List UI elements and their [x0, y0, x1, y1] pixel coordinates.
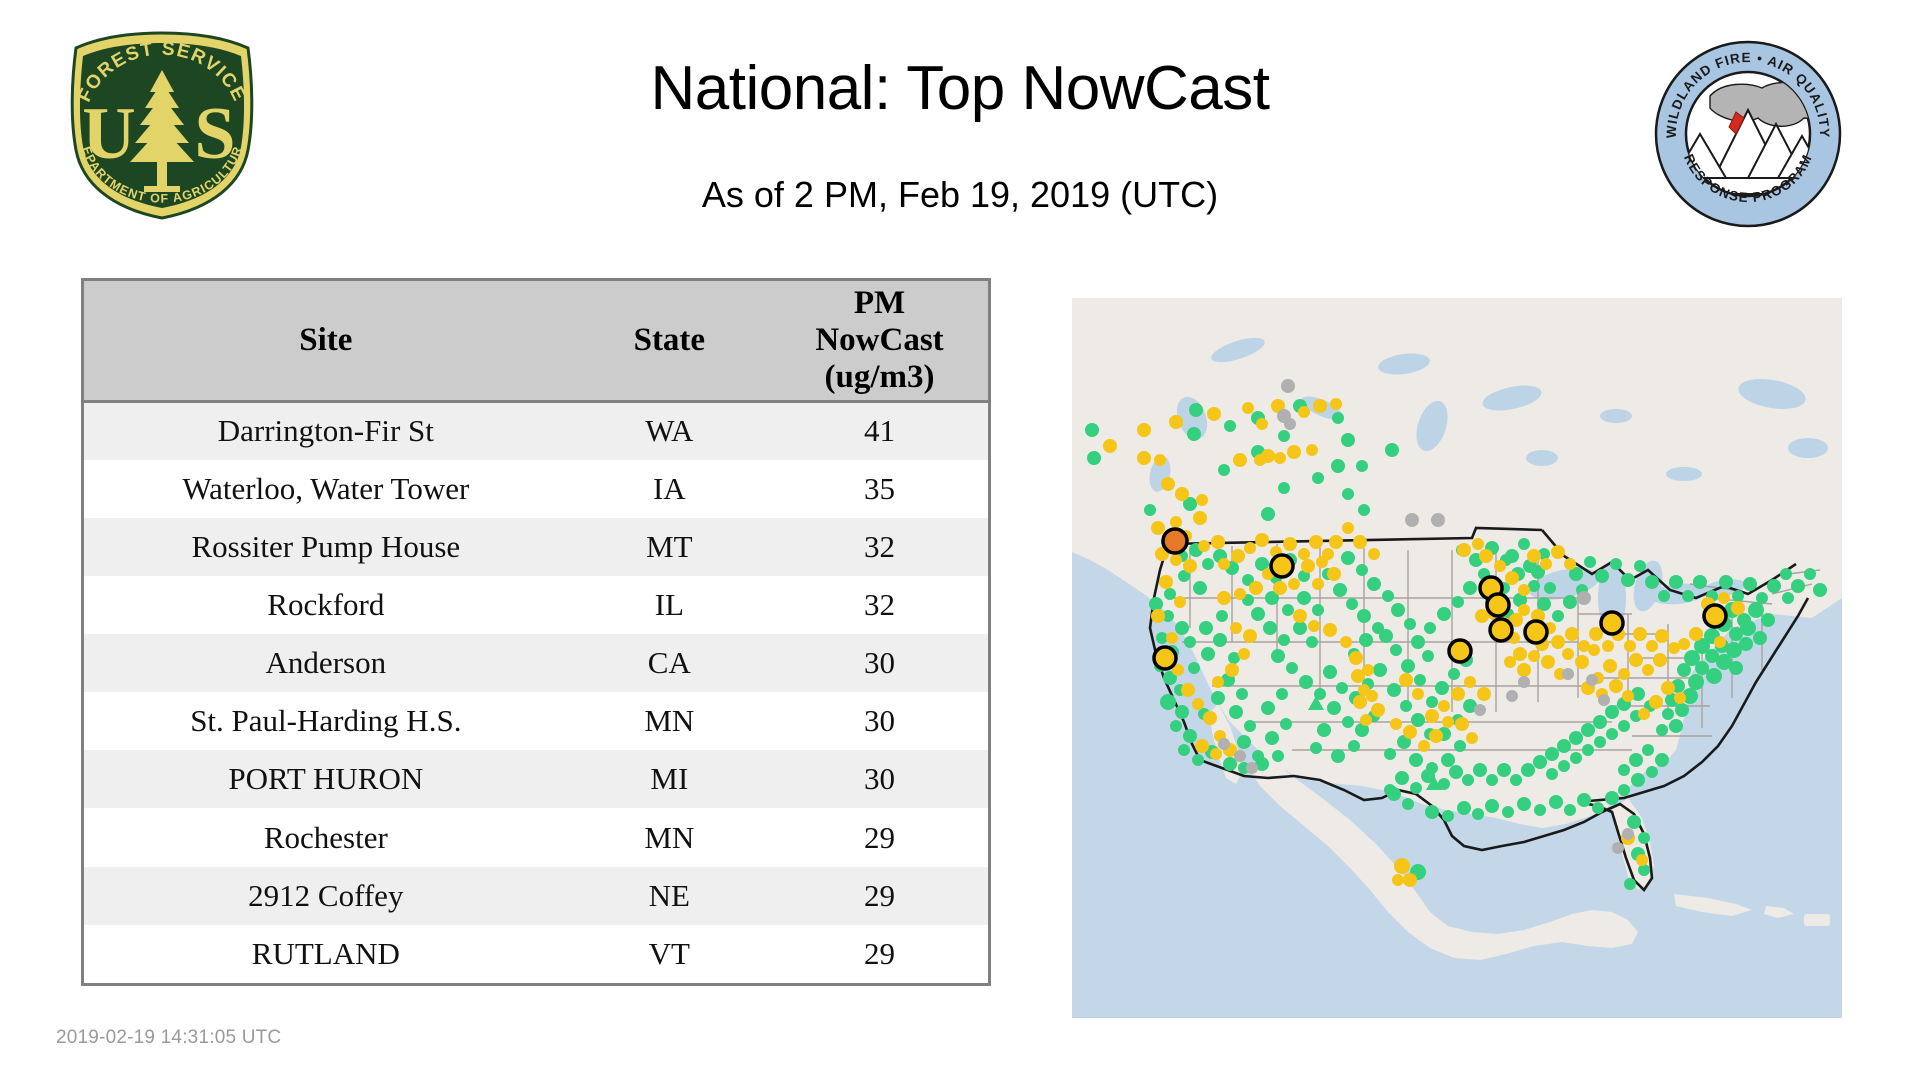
column-header-pm-line2: NowCast	[777, 322, 982, 359]
top-site-marker-anderson[interactable]	[1154, 647, 1176, 669]
table-row: 2912 Coffey NE 29	[84, 867, 988, 925]
table-row: PORT HURON MI 30	[84, 750, 988, 808]
column-header-pm-line1: PM	[777, 285, 982, 322]
cell-site: Rossiter Pump House	[84, 518, 568, 576]
table-row: RUTLAND VT 29	[84, 925, 988, 983]
map-canvas[interactable]	[1072, 298, 1842, 1018]
cell-value: 29	[771, 808, 988, 866]
cell-state: VT	[568, 925, 771, 983]
cell-value: 30	[771, 692, 988, 750]
slide-root: U S FOREST SERVICE DEPARTMENT OF AGRICUL…	[0, 0, 1920, 1080]
table-body: Darrington-Fir St WA 41 Waterloo, Water …	[84, 401, 988, 983]
cell-state: IL	[568, 576, 771, 634]
cell-value: 29	[771, 867, 988, 925]
top-nowcast-table: Site State PM NowCast (ug/m3) Darrington…	[84, 281, 988, 983]
table-header-row: Site State PM NowCast (ug/m3)	[84, 281, 988, 401]
cell-site: Waterloo, Water Tower	[84, 460, 568, 518]
cell-value: 32	[771, 576, 988, 634]
cell-site: Rockford	[84, 576, 568, 634]
cell-site: Rochester	[84, 808, 568, 866]
table-row: Waterloo, Water Tower IA 35	[84, 460, 988, 518]
cell-state: MN	[568, 692, 771, 750]
cell-state: MI	[568, 750, 771, 808]
top-site-marker-rossiter-pump-house[interactable]	[1271, 555, 1293, 577]
cell-value: 41	[771, 401, 988, 459]
cell-state: NE	[568, 867, 771, 925]
cell-state: WA	[568, 401, 771, 459]
cell-value: 35	[771, 460, 988, 518]
column-header-state: State	[568, 281, 771, 401]
cell-site: 2912 Coffey	[84, 867, 568, 925]
top-site-marker-waterloo-water-tower[interactable]	[1490, 619, 1512, 641]
cell-value: 30	[771, 750, 988, 808]
page-title: National: Top NowCast	[0, 56, 1920, 121]
top-site-marker-rochester[interactable]	[1487, 594, 1509, 616]
table-row: Anderson CA 30	[84, 634, 988, 692]
top-site-marker-port-huron[interactable]	[1601, 612, 1623, 634]
cell-value: 29	[771, 925, 988, 983]
footer-timestamp: 2019-02-19 14:31:05 UTC	[56, 1027, 281, 1049]
cell-value: 30	[771, 634, 988, 692]
cell-value: 32	[771, 518, 988, 576]
us-air-quality-monitor-map[interactable]	[1072, 298, 1842, 1018]
top-nowcast-table-container: Site State PM NowCast (ug/m3) Darrington…	[81, 278, 991, 986]
wfaqrp-logo: WILDLAND FIRE • AIR QUALITY RESPONSE PRO…	[1652, 38, 1844, 230]
cell-site: RUTLAND	[84, 925, 568, 983]
cell-state: MN	[568, 808, 771, 866]
cell-site: Anderson	[84, 634, 568, 692]
column-header-state-label: State	[634, 322, 705, 358]
table-row: Rossiter Pump House MT 32	[84, 518, 988, 576]
column-header-site-label: Site	[299, 322, 352, 358]
table-row: Darrington-Fir St WA 41	[84, 401, 988, 459]
top-site-marker-rockford[interactable]	[1525, 621, 1547, 643]
top-site-marker-darrington-fir-st[interactable]	[1163, 529, 1187, 553]
cell-site: St. Paul-Harding H.S.	[84, 692, 568, 750]
table-row: Rockford IL 32	[84, 576, 988, 634]
cell-state: MT	[568, 518, 771, 576]
cell-site: PORT HURON	[84, 750, 568, 808]
table-row: St. Paul-Harding H.S. MN 30	[84, 692, 988, 750]
page-subtitle: As of 2 PM, Feb 19, 2019 (UTC)	[0, 175, 1920, 215]
column-header-site: Site	[84, 281, 568, 401]
column-header-pm-line3: (ug/m3)	[777, 359, 982, 396]
cell-site: Darrington-Fir St	[84, 401, 568, 459]
cell-state: CA	[568, 634, 771, 692]
table-row: Rochester MN 29	[84, 808, 988, 866]
top-site-marker-2912-coffey[interactable]	[1449, 640, 1471, 662]
cell-state: IA	[568, 460, 771, 518]
top-site-marker-rutland[interactable]	[1704, 605, 1726, 627]
column-header-pm-nowcast: PM NowCast (ug/m3)	[771, 281, 988, 401]
